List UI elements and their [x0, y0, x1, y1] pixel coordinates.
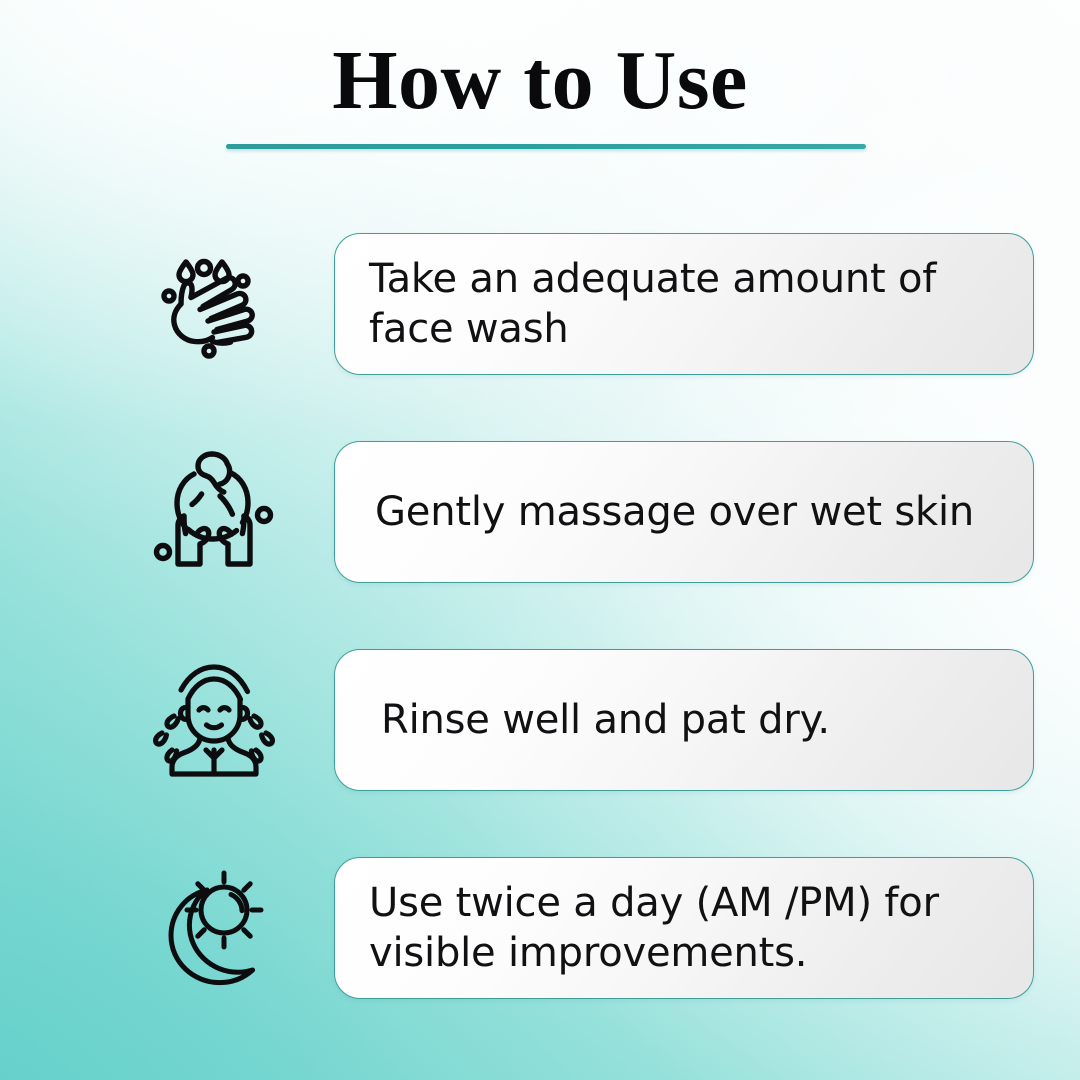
how-to-use-poster: How to Use [0, 0, 1080, 1080]
title-underline-rule [226, 144, 866, 149]
list-item: Use twice a day (AM /PM) for visible imp… [0, 857, 1080, 999]
sun-moon-icon [148, 862, 280, 994]
steps-list: Take an adequate amount of face wash [0, 233, 1080, 999]
step-text: Gently massage over wet skin [335, 487, 1000, 537]
list-item: Gently massage over wet skin [0, 441, 1080, 583]
step-text: Use twice a day (AM /PM) for visible imp… [335, 878, 1033, 978]
washing-hands-icon [148, 238, 280, 370]
step-card: Take an adequate amount of face wash [334, 233, 1034, 375]
step-card: Gently massage over wet skin [334, 441, 1034, 583]
title-block: How to Use [0, 38, 1080, 124]
step-card: Rinse well and pat dry. [334, 649, 1034, 791]
step-card: Use twice a day (AM /PM) for visible imp… [334, 857, 1034, 999]
step-text: Take an adequate amount of face wash [335, 254, 1033, 354]
list-item: Take an adequate amount of face wash [0, 233, 1080, 375]
page-title: How to Use [0, 38, 1080, 124]
rinse-face-splash-icon [148, 654, 280, 786]
face-massage-hands-icon [148, 446, 280, 578]
step-text: Rinse well and pat dry. [335, 695, 856, 745]
list-item: Rinse well and pat dry. [0, 649, 1080, 791]
